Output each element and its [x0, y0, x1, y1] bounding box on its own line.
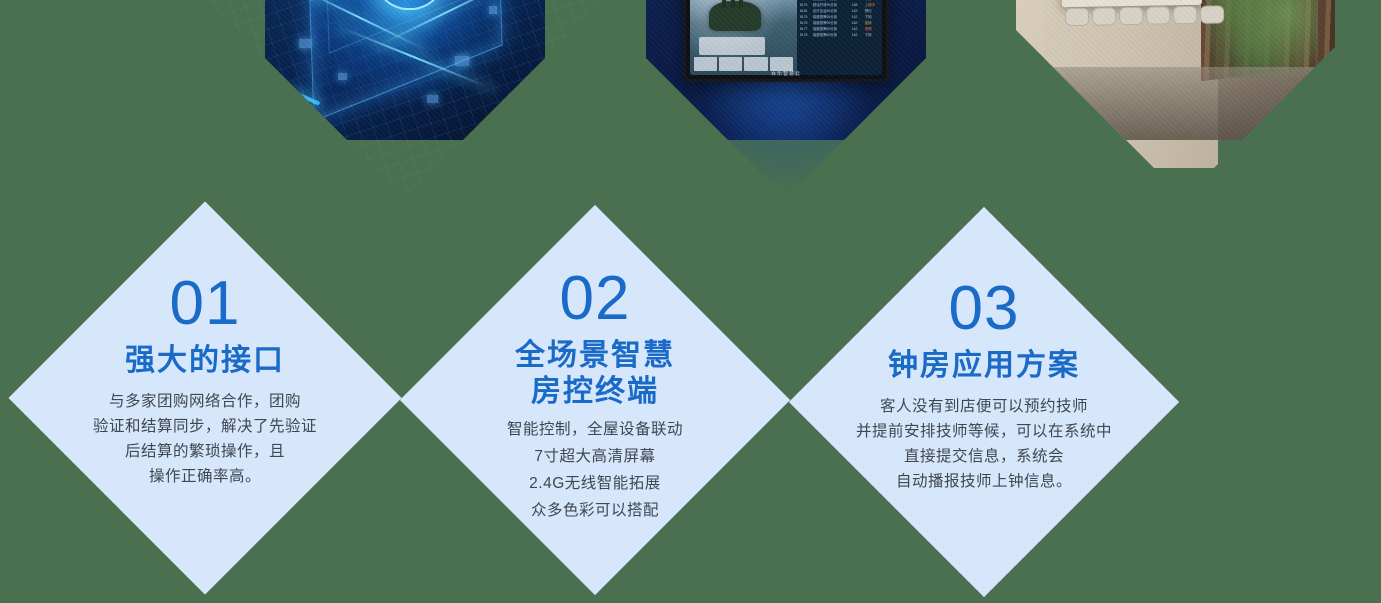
cell-status: 下钟 [865, 0, 879, 2]
chip-decor [299, 39, 311, 48]
feature-panel-3: 03 钟房应用方案 客人没有到店便可以预约技师 并提前安排技师等候，可以在系统中… [789, 207, 1179, 597]
panel-key[interactable] [1146, 6, 1170, 24]
panel-description-1: 与多家团购网络合作，团购 验证和结算同步，解决了先验证 后结算的繁琐操作，且 操… [93, 389, 317, 489]
promo-banner: 22:35 SPA6房 晴 19° 11/24 房人 项目 技师 状态 8178 [0, 0, 1381, 603]
tablet-service-table: 房人 项目 技师 状态 8178 保健按摩60分钟 162 下钟 [800, 0, 879, 72]
cell-item: 保健按摩90分钟 [813, 21, 850, 26]
panel-image-blue-circuit-shield [207, 0, 603, 198]
cell-tech: 182 [852, 21, 863, 26]
panel-number-2: 02 [560, 268, 631, 330]
table-row: 8176 保健按摩90分钟 182 加钟 [800, 21, 879, 26]
panel-key[interactable] [1173, 6, 1197, 24]
cell-item: 保健按摩60分钟 [813, 27, 850, 32]
table-row: 8118 足疗足浴60分钟 162 预约 [800, 9, 879, 14]
brand-text: 百乐智慧云 [771, 70, 801, 77]
feature-panel-2: 02 全场景智慧 房控终端 智能控制，全屋设备联动 7寸超大高清屏幕 2.4G无… [400, 205, 790, 595]
cell-room: 8179 [800, 3, 811, 8]
cell-tech: 162 [852, 27, 863, 32]
cell-status: 预约 [865, 9, 879, 14]
cell-status: 上钟中 [865, 3, 879, 8]
panel-number-3: 03 [949, 278, 1020, 340]
wall-panel-physical-keys[interactable] [1065, 6, 1225, 24]
chip-decor [338, 73, 347, 80]
island-decor [709, 1, 760, 31]
panel-title-3: 钟房应用方案 [888, 348, 1080, 384]
tablet-info-pane: 22:35 SPA6房 晴 19° 11/24 房人 项目 技师 状态 8178 [797, 0, 882, 75]
tablet-brand-logo: 百乐智慧云 [686, 68, 886, 80]
chip-decor [489, 6, 497, 14]
cell-room: 8178 [800, 33, 811, 38]
table-row: 8178 保健按摩60分钟 162 下钟 [800, 0, 879, 2]
cell-tech: 162 [852, 33, 863, 38]
table-row: 8178 保健按摩60分钟 162 下钟 [800, 33, 879, 38]
floor-decor [1044, 67, 1324, 140]
cell-status: 加钟 [865, 21, 879, 26]
wall-tablet-device: 22:35 SPA6房 晴 19° 11/24 房人 项目 技师 状态 8178 [683, 0, 889, 82]
cell-tech: 162 [852, 0, 863, 2]
table-row: 8177 保健按摩60分钟 162 清理 [800, 27, 879, 32]
tree-decor [731, 0, 735, 8]
panel-title-1: 强大的接口 [125, 343, 285, 379]
panel-title-2: 全场景智慧 房控终端 [515, 338, 675, 410]
tree-decor [739, 0, 743, 7]
chip-decor [427, 95, 438, 103]
cell-item: 保健按摩60分钟 [813, 15, 850, 20]
cell-room: 8118 [800, 9, 811, 14]
cell-item: 保健按摩60分钟 [813, 33, 850, 38]
cell-item: 精油开背90分钟 [813, 3, 850, 8]
cell-item: 保健按摩60分钟 [813, 0, 850, 2]
wall-control-panel-device: 客房控制 房间控制 钟房应用 系统设置 点 钟 CALL钟 圈 钟 换 钟 [1060, 0, 1202, 7]
cell-item: 足疗足浴60分钟 [813, 9, 850, 14]
table-row: 8179 精油开背90分钟 168 上钟中 [800, 3, 879, 8]
panel-description-2: 智能控制，全屋设备联动 7寸超大高清屏幕 2.4G无线智能拓展 众多色彩可以搭配 [507, 416, 683, 524]
cell-room: 8176 [800, 21, 811, 26]
scenery-wallpaper [690, 0, 797, 75]
chip-decor [455, 56, 469, 66]
panel-image-smart-room-tablet: 22:35 SPA6房 晴 19° 11/24 房人 项目 技师 状态 8178 [588, 0, 984, 198]
cell-tech: 162 [852, 15, 863, 20]
panel-key[interactable] [1092, 7, 1116, 25]
cell-tech: 162 [852, 9, 863, 14]
table-row: 8175 保健按摩60分钟 162 下钟 [800, 15, 879, 20]
cell-status: 下钟 [865, 15, 879, 20]
panel-key[interactable] [1065, 8, 1089, 26]
panel-image-wall-control-panel-room: 客房控制 房间控制 钟房应用 系统设置 点 钟 CALL钟 圈 钟 换 钟 [986, 0, 1381, 198]
cell-room: 8175 [800, 15, 811, 20]
media-control-bar[interactable] [699, 37, 765, 56]
cell-status: 下钟 [865, 33, 879, 38]
tablet-screen: 22:35 SPA6房 晴 19° 11/24 房人 项目 技师 状态 8178 [690, 0, 882, 75]
panel-number-1: 01 [170, 273, 241, 335]
panel-description-3: 客人没有到店便可以预约技师 并提前安排技师等候，可以在系统中 直接提交信息，系统… [856, 394, 1112, 494]
cell-room: 8178 [800, 0, 811, 2]
tree-decor [722, 0, 726, 8]
feature-panel-1: 01 强大的接口 与多家团购网络合作，团购 验证和结算同步，解决了先验证 后结算… [8, 201, 401, 594]
panel-key[interactable] [1200, 5, 1224, 23]
panel-key[interactable] [1119, 7, 1143, 25]
cell-status: 清理 [865, 27, 879, 32]
cell-tech: 168 [852, 3, 863, 8]
cell-room: 8177 [800, 27, 811, 32]
